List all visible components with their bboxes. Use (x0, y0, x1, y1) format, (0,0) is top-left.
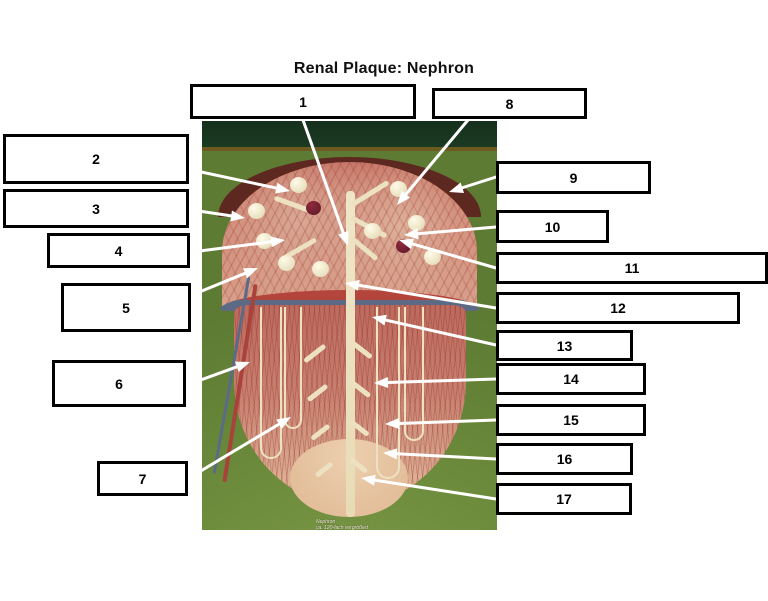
photo-caption: Nephron ca. 120-fach vergrößert Nephron … (316, 519, 436, 530)
label-10-text: 10 (545, 219, 561, 235)
label-6-text: 6 (115, 376, 123, 392)
photo-dark-band (202, 121, 497, 147)
nephron-loop (260, 307, 282, 459)
label-6[interactable]: 6 (52, 360, 186, 407)
label-13[interactable]: 13 (496, 330, 633, 361)
glomerulus (248, 203, 265, 219)
label-2[interactable]: 2 (3, 134, 189, 184)
glomerulus (364, 223, 381, 239)
label-8-text: 8 (506, 96, 514, 112)
label-1[interactable]: 1 (190, 84, 416, 119)
label-3[interactable]: 3 (3, 189, 189, 228)
label-7[interactable]: 7 (97, 461, 188, 496)
label-11[interactable]: 11 (496, 252, 768, 284)
label-15[interactable]: 15 (496, 404, 646, 436)
glomerulus (424, 249, 441, 265)
glomerulus (390, 181, 407, 197)
label-14[interactable]: 14 (496, 363, 646, 395)
label-3-text: 3 (92, 201, 100, 217)
label-13-text: 13 (557, 338, 573, 354)
label-16[interactable]: 16 (496, 443, 633, 475)
glomerulus (256, 233, 273, 249)
label-4[interactable]: 4 (47, 233, 190, 268)
label-7-text: 7 (139, 471, 147, 487)
label-5-text: 5 (122, 300, 130, 316)
label-12[interactable]: 12 (496, 292, 740, 324)
label-15-text: 15 (563, 412, 579, 428)
nephron-loop (376, 307, 400, 479)
label-1-text: 1 (299, 94, 307, 110)
glomerulus (290, 177, 307, 193)
label-9-text: 9 (570, 170, 578, 186)
label-16-text: 16 (557, 451, 573, 467)
screenshot-root: Renal Plaque: Nephron (0, 0, 768, 601)
label-11-text: 11 (625, 260, 640, 276)
label-4-text: 4 (115, 243, 123, 259)
kidney-wedge: Nephron ca. 120-fach vergrößert Nephron … (212, 157, 487, 527)
glomerulus (408, 215, 425, 231)
nephron-loop (404, 307, 424, 441)
nephron-loop (284, 307, 302, 429)
label-9[interactable]: 9 (496, 161, 651, 194)
label-5[interactable]: 5 (61, 283, 191, 332)
label-17[interactable]: 17 (496, 483, 632, 515)
nephron-photograph: Nephron ca. 120-fach vergrößert Nephron … (202, 121, 497, 530)
label-2-text: 2 (92, 151, 100, 167)
label-17-text: 17 (556, 491, 572, 507)
label-12-text: 12 (610, 300, 626, 316)
caption-line: ca. 120-fach vergrößert (316, 525, 436, 530)
label-14-text: 14 (563, 371, 579, 387)
glomerulus (278, 255, 295, 271)
glomerulus (312, 261, 329, 277)
glomerulus-vascular (396, 239, 411, 253)
glomerulus-vascular (306, 201, 321, 215)
page-title: Renal Plaque: Nephron (0, 60, 768, 78)
label-10[interactable]: 10 (496, 210, 609, 243)
label-8[interactable]: 8 (432, 88, 587, 119)
